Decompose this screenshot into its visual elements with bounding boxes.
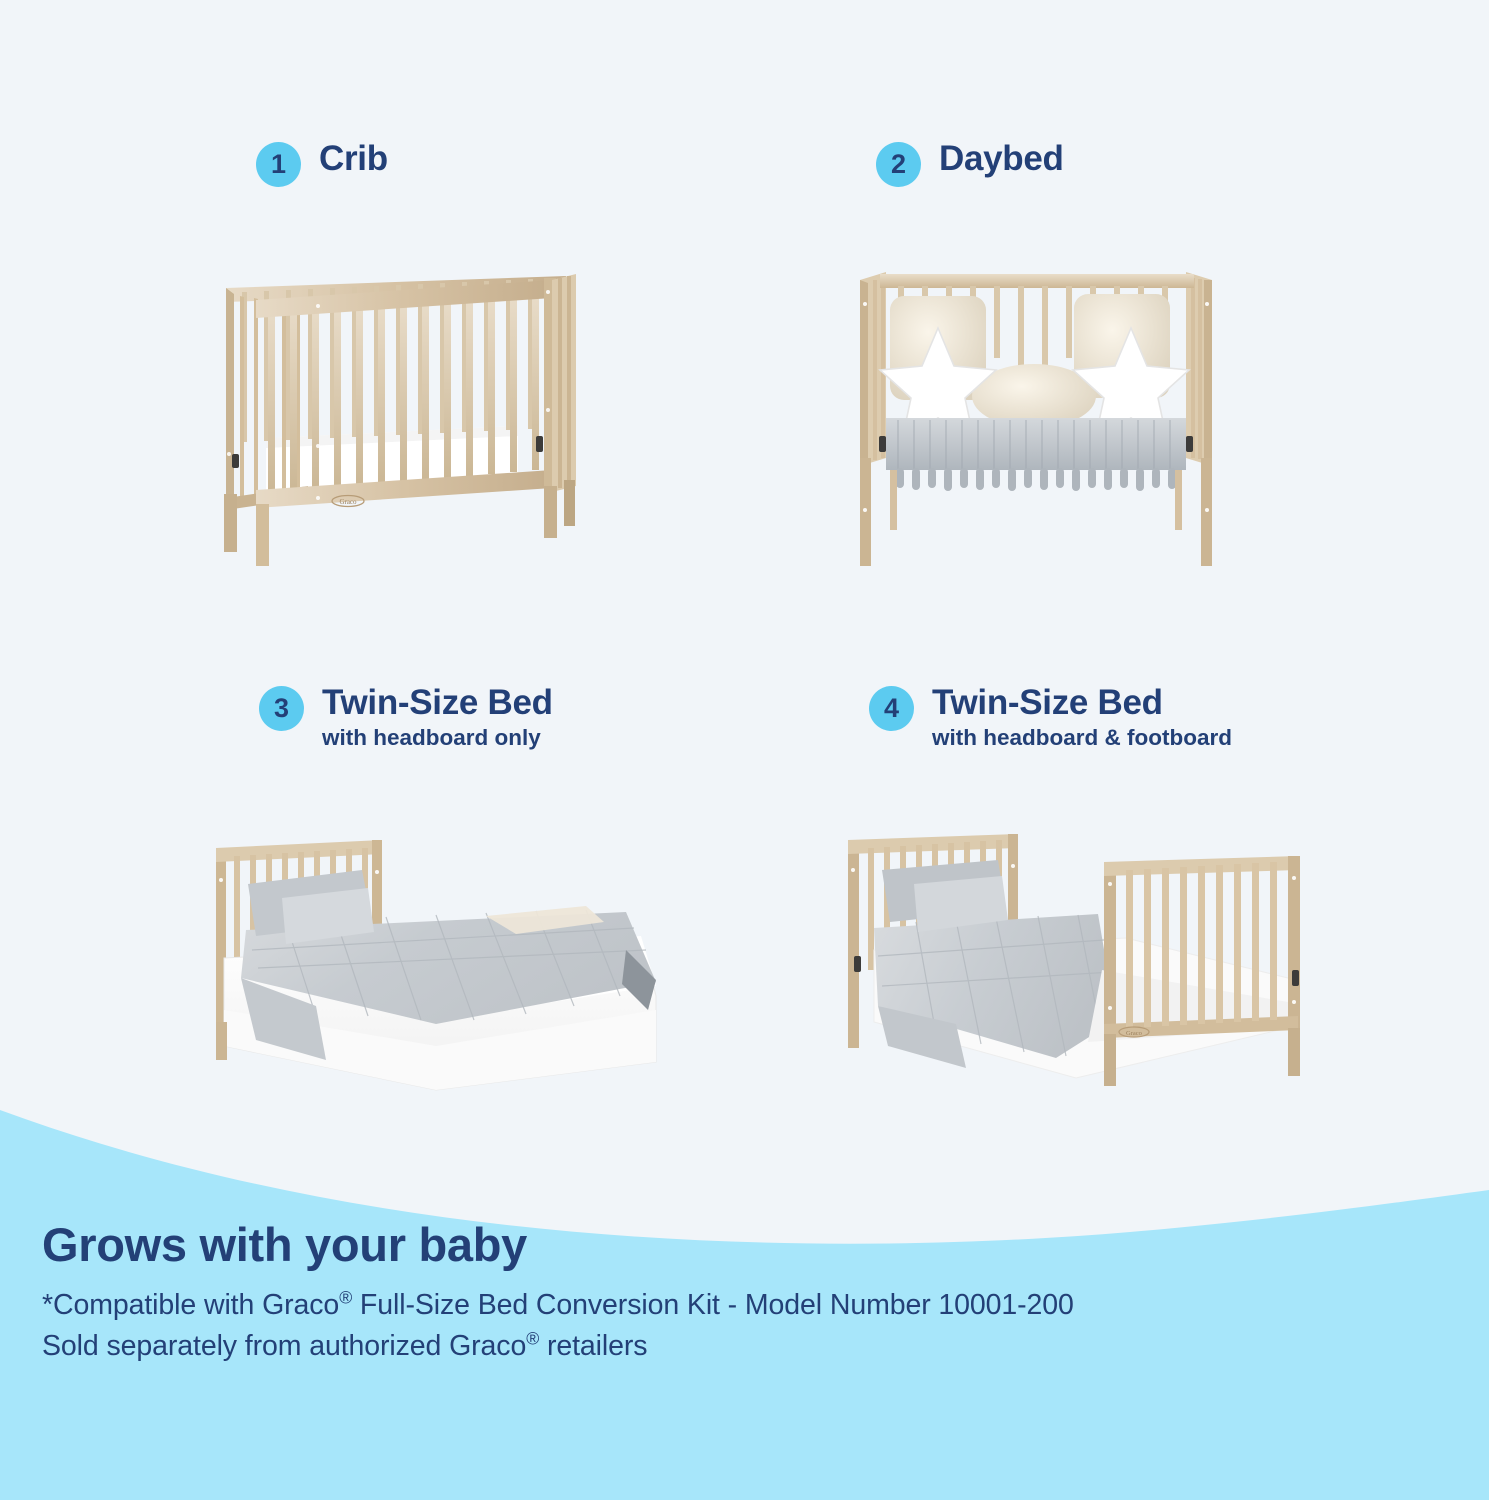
step-title-1: Crib [319,140,388,178]
step-title-wrap-3: Twin-Size Bed with headboard only [322,684,553,751]
step-number-badge-4: 4 [869,686,914,731]
step-number-badge-2: 2 [876,142,921,187]
step-title-2: Daybed [939,140,1064,178]
step-header-1: 1 Crib [256,140,388,187]
infographic-page: 1 Crib [0,0,1489,1500]
crib-illustration: Graco [196,258,596,578]
svg-text:Graco: Graco [1126,1030,1142,1037]
twin-bed-headboard-illustration [186,810,676,1100]
daybed-illustration [846,258,1226,578]
banner-title: Grows with your baby [42,1220,1442,1269]
bottom-banner: Grows with your baby *Compatible with Gr… [0,1090,1489,1500]
step-header-3: 3 Twin-Size Bed with headboard only [259,684,553,751]
step-title-wrap-4: Twin-Size Bed with headboard & footboard [932,684,1232,751]
step-subtitle-3: with headboard only [322,724,553,751]
banner-line-2: Sold separately from authorized Graco® r… [42,1326,1442,1366]
tassel-fringe [896,468,1176,491]
step-title-wrap-1: Crib [319,140,388,178]
svg-text:Graco: Graco [339,498,357,506]
step-title-4: Twin-Size Bed [932,684,1232,722]
twin-bed-headboard-footboard-illustration: Graco [826,810,1326,1110]
banner-line-2-suffix: retailers [539,1330,647,1362]
step-title-3: Twin-Size Bed [322,684,553,722]
step-header-4: 4 Twin-Size Bed with headboard & footboa… [869,684,1232,751]
banner-line-1-suffix: Full-Size Bed Conversion Kit - Model Num… [352,1289,1074,1321]
step-number-badge-3: 3 [259,686,304,731]
step-header-2: 2 Daybed [876,140,1064,187]
step-subtitle-4: with headboard & footboard [932,724,1232,751]
step-number-badge-1: 1 [256,142,301,187]
banner-fine-print: *Compatible with Graco® Full-Size Bed Co… [42,1285,1442,1366]
banner-line-2-prefix: Sold separately from authorized Graco [42,1330,526,1362]
banner-line-1: *Compatible with Graco® Full-Size Bed Co… [42,1285,1442,1325]
knit-blanket [886,418,1186,470]
registered-mark-2: ® [526,1328,539,1348]
banner-text-block: Grows with your baby *Compatible with Gr… [42,1220,1442,1366]
step-title-wrap-2: Daybed [939,140,1064,178]
banner-line-1-prefix: *Compatible with Graco [42,1289,339,1321]
registered-mark-1: ® [339,1288,352,1308]
